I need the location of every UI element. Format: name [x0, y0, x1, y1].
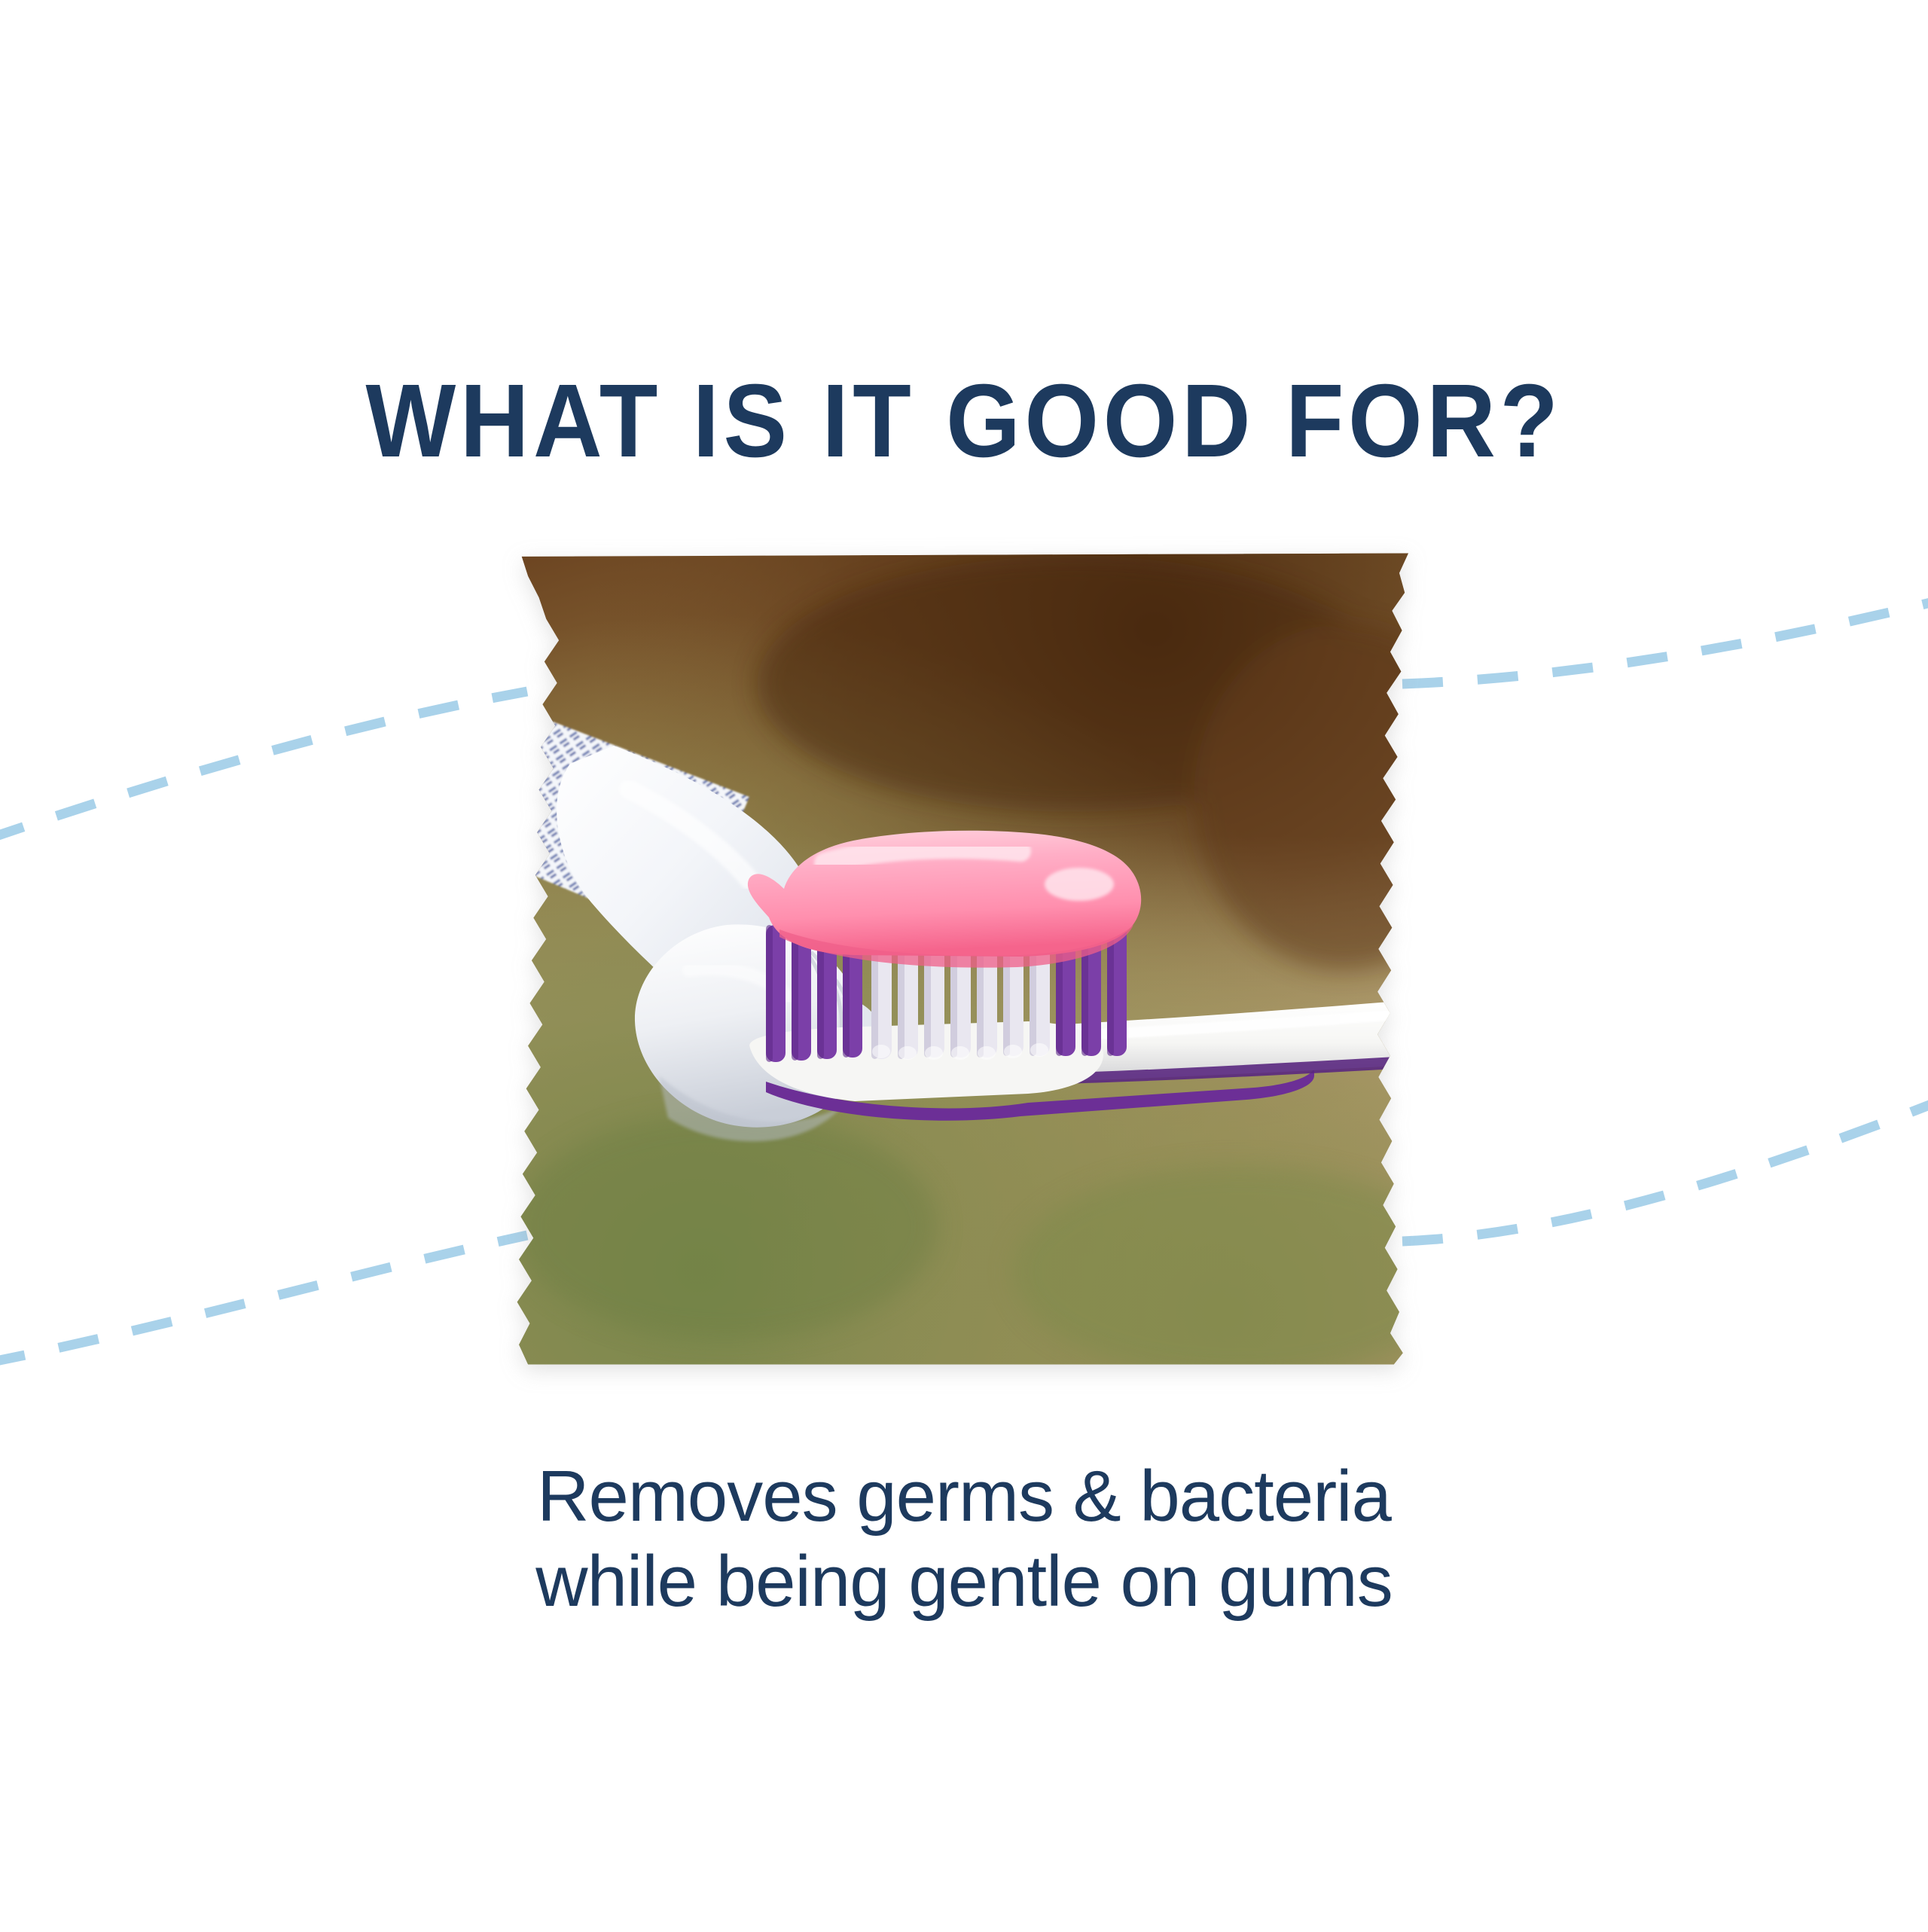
page-title: WHAT IS IT GOOD FOR?	[77, 369, 1850, 473]
caption-line-2: while being gentle on gums	[0, 1539, 1928, 1624]
caption-line-1: Removes germs & bacteria	[0, 1454, 1928, 1539]
dashed-line-lower-left	[0, 1235, 527, 1363]
hero-photo	[501, 548, 1408, 1369]
hero-photo-frame	[501, 548, 1408, 1369]
slide-canvas: WHAT IS IT GOOD FOR?	[0, 0, 1928, 1928]
photo-caption: Removes germs & bacteria while being gen…	[0, 1454, 1928, 1625]
dashed-line-upper-left	[0, 691, 527, 840]
dashed-line-lower-right	[1402, 1100, 1928, 1241]
dashed-line-upper-right	[1402, 600, 1928, 684]
